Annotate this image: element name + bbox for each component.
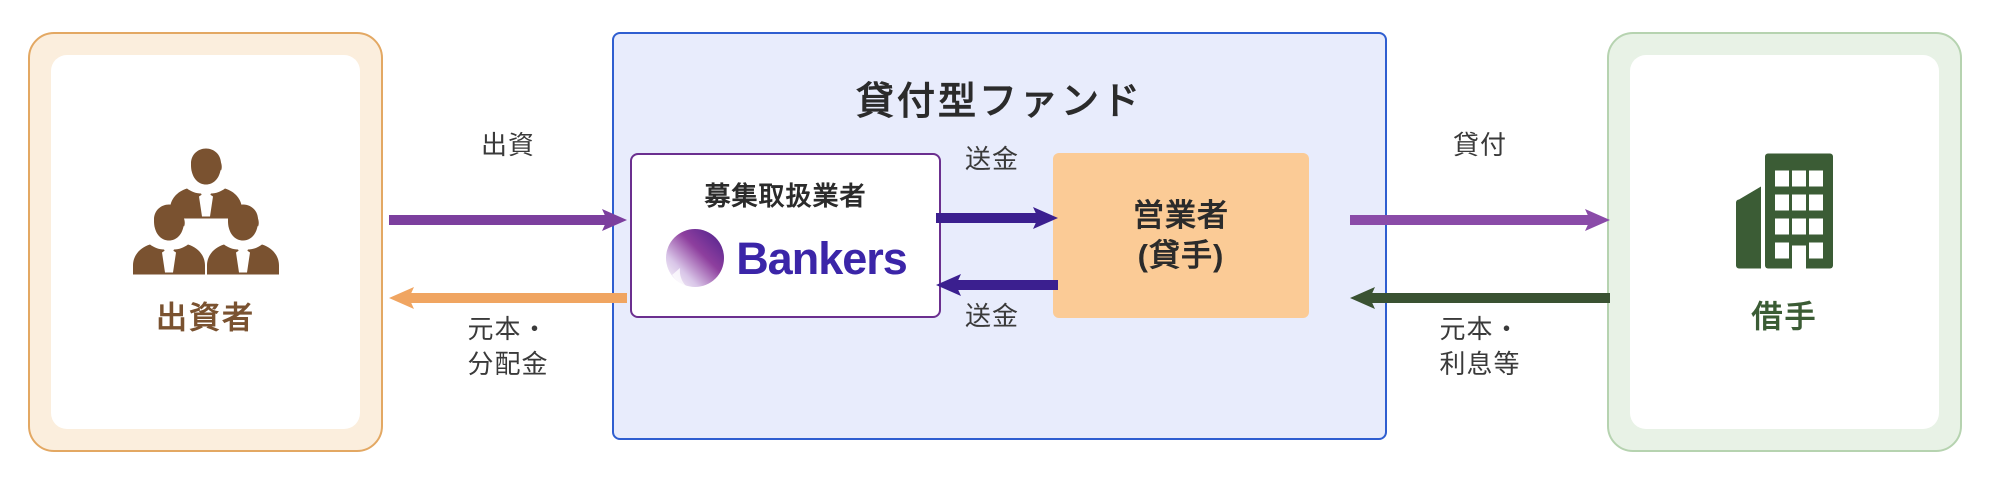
investor-content: 出資者 xyxy=(51,147,360,338)
flow-arrow-soukin-right xyxy=(936,207,1058,229)
flow-label-soukin-right: 送金 xyxy=(931,142,1053,177)
borrower-content: 借手 xyxy=(1630,148,1939,337)
operator-label-line1: 営業者 xyxy=(1133,196,1229,236)
flow-label-genpon-bunpaikin: 元本・ 分配金 xyxy=(389,312,627,382)
three-people-icon xyxy=(131,147,281,279)
handler-label: 募集取扱業者 xyxy=(704,176,866,213)
borrower-label: 借手 xyxy=(1752,292,1818,337)
flow-label-toushi: 出資 xyxy=(389,128,627,163)
flow-label-ganpon-risoku: 元本・ 利息等 xyxy=(1350,312,1610,382)
flow-label-kashitsuke: 貸付 xyxy=(1350,128,1610,163)
lending-fund-scheme-diagram: 出資者 貸付型ファンド 募集取扱業者 xyxy=(0,0,1990,484)
borrower-panel: 借手 xyxy=(1607,32,1962,452)
flow-arrow-toushi xyxy=(389,209,627,231)
bankers-wordmark: Bankers xyxy=(736,236,907,281)
investor-card: 出資者 xyxy=(51,55,360,429)
bankers-circle-mark-icon xyxy=(664,227,726,289)
flow-arrow-soukin-left xyxy=(936,274,1058,296)
flow-arrow-kashitsuke xyxy=(1350,209,1610,231)
operator-label-line2: (貸手) xyxy=(1138,236,1225,276)
fund-title: 貸付型ファンド xyxy=(614,70,1385,125)
handler-card: 募集取扱業者 xyxy=(630,153,941,318)
flow-label-soukin-left: 送金 xyxy=(931,299,1053,334)
flow-arrow-ganpon-risoku xyxy=(1350,287,1610,309)
flow-arrow-genpon-bunpaikin xyxy=(389,287,627,309)
borrower-card: 借手 xyxy=(1630,55,1939,429)
operator-box: 営業者 (貸手) xyxy=(1053,153,1309,318)
investor-label: 出資者 xyxy=(156,293,255,338)
investor-panel: 出資者 xyxy=(28,32,383,452)
office-building-icon xyxy=(1726,148,1844,278)
bankers-logo: Bankers xyxy=(664,227,907,289)
